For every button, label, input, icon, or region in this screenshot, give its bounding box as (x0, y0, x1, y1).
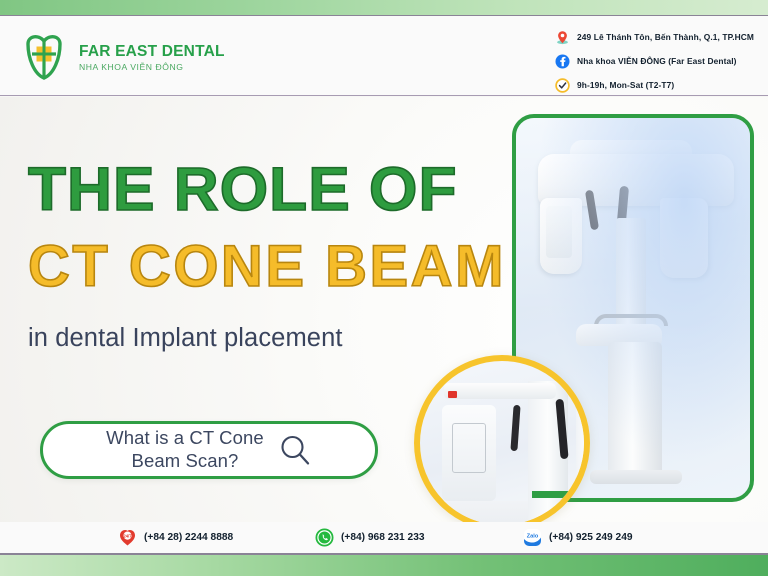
tooth-cross-logo-icon (18, 32, 70, 82)
hero-stage: THE ROLE OF CT CONE BEAM in dental Impla… (0, 97, 768, 554)
header-contact-list: 249 Lê Thánh Tôn, Bến Thành, Q.1, TP.HCM… (555, 28, 754, 94)
address-text: 249 Lê Thánh Tôn, Bến Thành, Q.1, TP.HCM (577, 32, 754, 42)
svg-text:24/7: 24/7 (123, 533, 132, 538)
zalo-number: (+84) 925 249 249 (549, 532, 633, 543)
search-question-line-1: What is a CT Cone (106, 427, 264, 448)
brand-wordmark: FAR EAST DENTAL NHA KHOA VIỄN ĐÔNG (79, 42, 225, 71)
whatsapp-phone-icon (315, 528, 334, 547)
headline-line-1: THE ROLE OF (28, 159, 507, 220)
facebook-icon (555, 54, 570, 69)
facebook-text: Nha khoa VIỄN ĐÔNG (Far East Dental) (577, 56, 737, 66)
cbct-detail-inset-photo (414, 355, 590, 531)
footer-contact-bar: 24/7 (+84 28) 2244 8888 (+84) 968 231 23… (0, 522, 768, 554)
page-header: FAR EAST DENTAL NHA KHOA VIỄN ĐÔNG 249 L… (0, 16, 768, 96)
headline-subtitle: in dental Implant placement (28, 324, 498, 353)
top-gradient-strip (0, 0, 768, 16)
map-pin-icon (555, 30, 570, 45)
brand-logo-block[interactable]: FAR EAST DENTAL NHA KHOA VIỄN ĐÔNG (18, 32, 225, 82)
zalo-icon: Zalo (523, 528, 542, 547)
hours-text: 9h-19h, Mon-Sat (T2-T7) (577, 80, 674, 90)
header-contact-facebook[interactable]: Nha khoa VIỄN ĐÔNG (Far East Dental) (555, 52, 754, 70)
hotline-247-icon: 24/7 (118, 528, 137, 547)
header-contact-hours: 9h-19h, Mon-Sat (T2-T7) (555, 76, 754, 94)
brand-name: FAR EAST DENTAL (79, 44, 225, 60)
brand-name-vi: NHA KHOA VIỄN ĐÔNG (79, 63, 225, 72)
hotline-number: (+84 28) 2244 8888 (144, 532, 233, 543)
bottom-gradient-strip (0, 554, 768, 576)
whatsapp-number: (+84) 968 231 233 (341, 532, 425, 543)
headline-line-2: CT CONE BEAM (28, 238, 498, 296)
hero-headline: THE ROLE OF CT CONE BEAM in dental Impla… (28, 159, 498, 353)
footer-channel-hotline[interactable]: 24/7 (+84 28) 2244 8888 (118, 528, 233, 547)
search-question-text: What is a CT Cone Beam Scan? (106, 427, 264, 472)
check-circle-icon (555, 78, 570, 93)
header-contact-address[interactable]: 249 Lê Thánh Tôn, Bến Thành, Q.1, TP.HCM (555, 28, 754, 46)
search-question-pill[interactable]: What is a CT Cone Beam Scan? (40, 421, 378, 479)
magnifier-icon[interactable] (278, 433, 312, 467)
svg-text:Zalo: Zalo (527, 533, 539, 539)
search-question-line-2: Beam Scan? (132, 450, 239, 471)
footer-channel-zalo[interactable]: Zalo (+84) 925 249 249 (523, 528, 633, 547)
footer-channel-whatsapp[interactable]: (+84) 968 231 233 (315, 528, 425, 547)
